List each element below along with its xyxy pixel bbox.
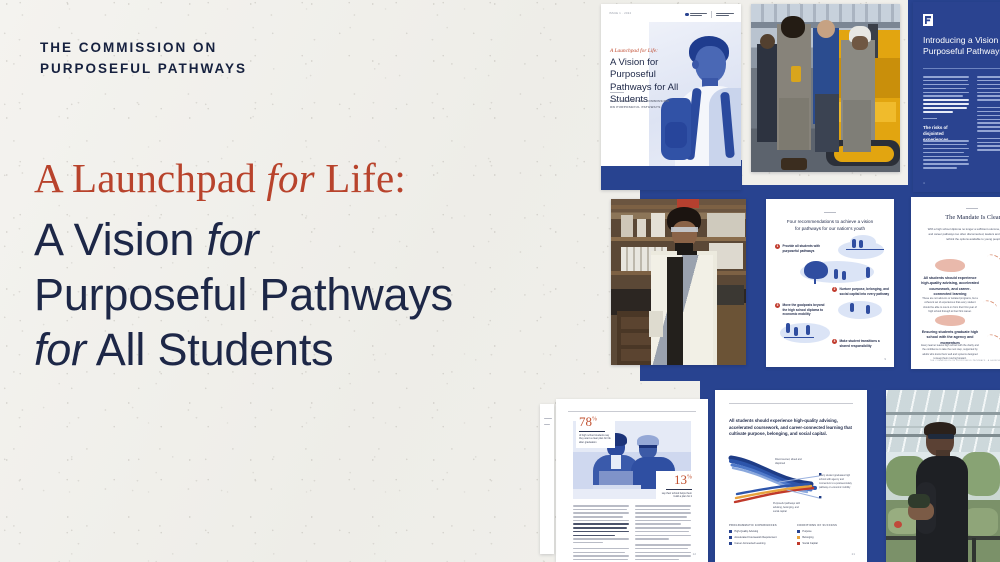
bench-line <box>846 249 884 250</box>
recommendation-2-number: 2 <box>832 287 837 292</box>
mandate-title: The Mandate Is Clear <box>921 214 1000 221</box>
partial-page-left[interactable] <box>540 404 554 554</box>
stat-78-caption: of high school students say they want a … <box>579 434 612 446</box>
flow-arrow-2 <box>982 299 998 312</box>
legend-swatch <box>797 542 800 545</box>
figure-walking-2 <box>842 271 846 280</box>
legend-right-row-1: Purpose <box>797 530 812 533</box>
stat-box-78: 78% of high school students say they wan… <box>576 413 615 448</box>
slide-canvas: THE COMMISSION ON PURPOSEFUL PATHWAYS A … <box>0 0 1000 562</box>
figure-group-2 <box>794 327 798 336</box>
intro-page[interactable]: Introducing a Vision for Purposeful Path… <box>913 2 1000 192</box>
report-collage: ISSUE 1 · 2024 <box>0 0 1000 562</box>
recommendation-3-label: Move the goalposts beyond the high schoo… <box>783 303 829 317</box>
backpack-pocket <box>665 122 687 148</box>
cloud-4 <box>838 301 882 319</box>
stat-box-13: 13% say their school helps them build a … <box>656 471 695 502</box>
intro-body-left <box>923 76 969 113</box>
flow-arrow-1 <box>986 253 1000 266</box>
recommendation-item-3[interactable]: 3 Move the goalposts beyond the high sch… <box>775 303 829 317</box>
legend-label: Belonging <box>802 536 813 539</box>
stat-78-rule <box>579 431 605 432</box>
recommendation-4-label: Make student transitions a shared respon… <box>840 339 890 348</box>
legend-label: Purpose <box>802 530 811 533</box>
figure-walking-3 <box>866 267 870 278</box>
cover-published-by: PUBLISHED BY THE COMMISSION ON PURPOSEFU… <box>610 99 670 110</box>
stat-78-unit: % <box>592 417 597 423</box>
mandate-lead: With a high school diploma no longer a s… <box>925 227 1000 241</box>
figure-seated-pair-2 <box>859 240 863 248</box>
pathways-lead: All students should experience high-qual… <box>729 418 853 438</box>
stat-78-value: 78% <box>579 415 612 428</box>
pathways-top-rule <box>729 403 853 404</box>
lab-student-photo[interactable] <box>611 199 746 365</box>
intro-page-title: Introducing a Vision for Purposeful Path… <box>923 35 1000 58</box>
stat-13-unit: % <box>687 475 692 481</box>
legend-swatch <box>729 530 732 533</box>
mandate-footnote: THE COMMISSION ON PURPOSEFUL PATHWAYS · … <box>921 360 1000 362</box>
intro-rule <box>923 68 1000 69</box>
mandate-block-1-body: These are not add-ons or isolated progra… <box>921 297 979 314</box>
legend-right-title: CONDITIONS OF SUCCESS <box>797 524 837 527</box>
illustration-blob-2 <box>935 315 965 326</box>
pathways-page-number: 21 <box>852 552 855 556</box>
illustration-blob-1 <box>935 259 965 272</box>
stats-page-number: 12 <box>693 552 696 556</box>
intro-sub-rule <box>923 118 937 119</box>
intro-body-right <box>977 76 1000 151</box>
recommendation-3-number: 3 <box>775 303 780 308</box>
person-left-collar <box>611 455 621 469</box>
recommendation-4-number: 4 <box>832 339 837 344</box>
table-line <box>784 337 814 338</box>
recs-page-number: 9 <box>884 357 886 361</box>
recommendation-1-label: Provide all students with purposeful pat… <box>783 244 829 253</box>
figure-group-3 <box>806 325 810 335</box>
cover-navy-footer <box>601 166 741 190</box>
stats-body-left <box>573 505 629 562</box>
legend-swatch <box>729 542 732 545</box>
intro-body-left-2 <box>923 140 969 169</box>
legend-left-row-2: Accelerated Coursework Requirement <box>729 536 777 539</box>
mandate-block-2-body: Every learner leaves high school with th… <box>921 344 979 361</box>
stats-top-rule <box>568 411 696 412</box>
document-icon <box>923 14 933 26</box>
legend-label: Career-Connected Learning <box>734 542 765 545</box>
recs-rule <box>824 212 836 213</box>
stats-body-right <box>635 505 691 560</box>
stat-13-rule <box>666 489 692 490</box>
legend-label: Social Capital <box>802 542 817 545</box>
mandate-rule <box>966 208 978 209</box>
figure-step-2 <box>866 305 870 314</box>
mandate-page[interactable]: The Mandate Is Clear With a high school … <box>911 197 1000 369</box>
recommendation-1-number: 1 <box>775 244 780 249</box>
figure-walking-1 <box>834 269 838 279</box>
figure-group-1 <box>786 323 790 333</box>
recommendation-2-label: Nurture purpose, belonging, and social c… <box>840 287 890 296</box>
person-right-glasses <box>639 445 657 448</box>
figure-seated-pair <box>852 239 856 248</box>
recs-title: Four recommendations to achieve a vision… <box>784 218 876 232</box>
pathways-diagram-page[interactable]: All students should experience high-qual… <box>715 390 867 562</box>
cover-issue-tag: ISSUE 1 · 2024 <box>609 12 631 15</box>
cover-logo-row <box>685 11 734 18</box>
flow-arrow-3 <box>986 333 1000 346</box>
legend-left-row-1: High-Quality Advising <box>729 530 758 533</box>
figure-step-1 <box>850 303 854 312</box>
legend-right-row-3: Social Capital <box>797 542 818 545</box>
intro-page-number: 4 <box>923 181 925 185</box>
legend-label: High-Quality Advising <box>734 530 758 533</box>
legend-swatch <box>797 530 800 533</box>
legend-left-title: PROGRAMMATIC EXPERIENCES <box>729 524 777 527</box>
report-cover-page[interactable]: ISSUE 1 · 2024 <box>601 4 741 190</box>
statistics-page[interactable]: 78% of high school students say they wan… <box>556 399 708 562</box>
legend-swatch <box>797 536 800 539</box>
cover-kicker: A Launchpad for Life: <box>610 48 658 54</box>
recommendation-item-4[interactable]: 4 Make student transitions a shared resp… <box>832 339 890 348</box>
legend-label: Accelerated Coursework Requirement <box>734 536 776 539</box>
logo-divider <box>711 11 712 18</box>
legend-swatch <box>729 536 732 539</box>
stat-13-value: 13% <box>659 473 692 486</box>
recommendation-item-1[interactable]: 1 Provide all students with purposeful p… <box>775 244 829 253</box>
gates-foundation-logo-icon <box>716 13 734 17</box>
cover-rule <box>610 92 624 93</box>
figure-tree <box>804 261 828 279</box>
mandate-block-1-heading: All students should experience high-qual… <box>921 276 979 298</box>
tree-trunk <box>814 277 816 284</box>
greenhouse-photo[interactable] <box>886 390 1000 562</box>
recommendations-page[interactable]: Four recommendations to achieve a vision… <box>766 199 894 367</box>
legend-right-row-2: Belonging <box>797 536 814 539</box>
workshop-photo[interactable] <box>751 4 900 172</box>
legend-left-row-3: Career-Connected Learning <box>729 542 765 545</box>
pathways-annotation-top: Disconnected, siloed and disjointed <box>775 458 805 466</box>
stat-13-caption: say their school helps them build a plan… <box>659 492 692 500</box>
pathways-annotation-right: Every student graduates high school with… <box>819 474 853 489</box>
pathways-annotation-bottom: Purposeful pathways with advising, belon… <box>773 502 805 514</box>
education-trust-logo-icon <box>685 13 707 17</box>
recommendation-item-2[interactable]: 2 Nurture purpose, belonging, and social… <box>832 287 890 296</box>
